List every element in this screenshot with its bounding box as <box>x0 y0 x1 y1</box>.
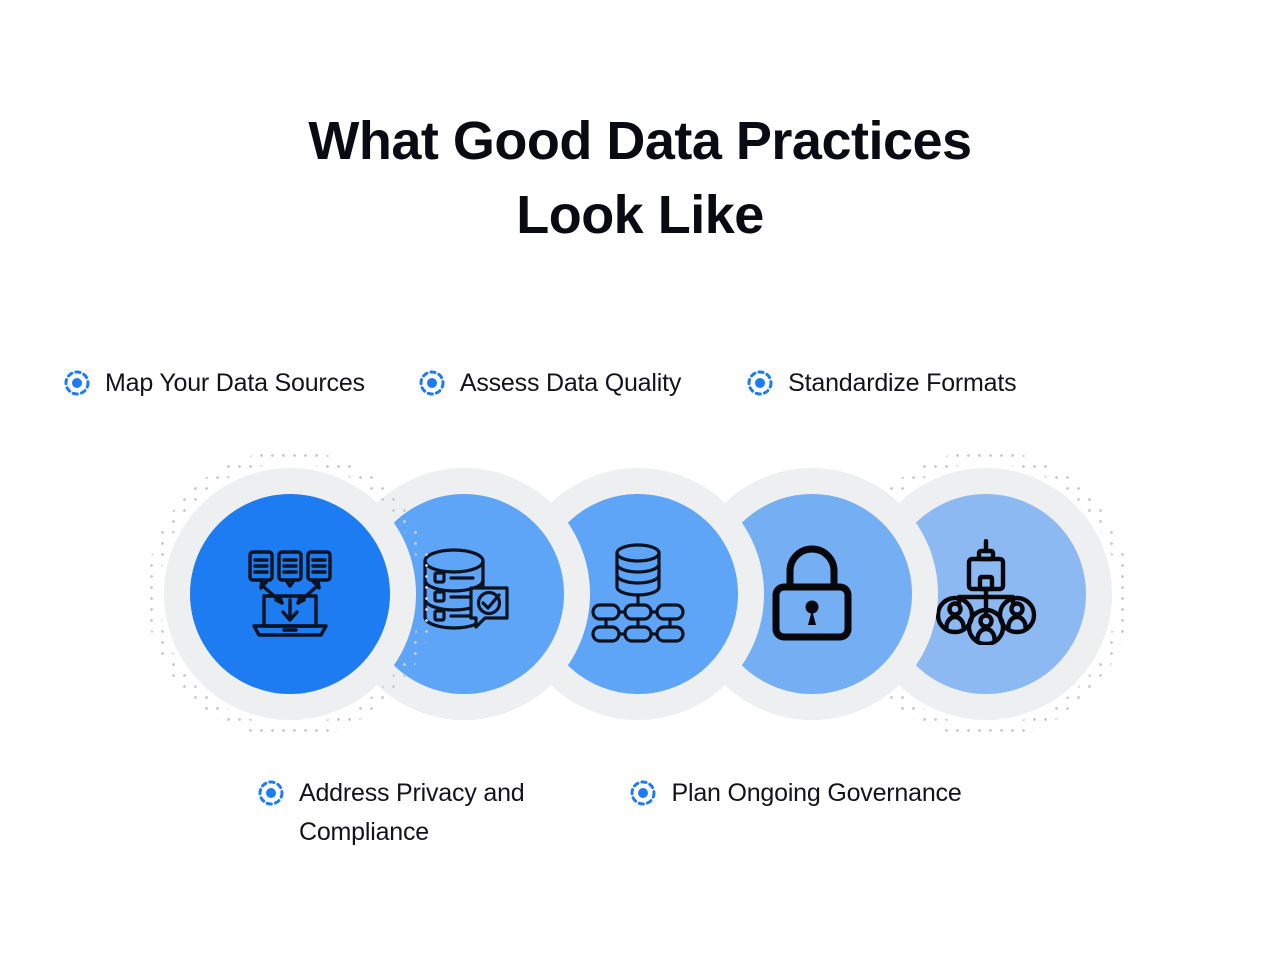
label-text: Map Your Data Sources <box>105 364 365 403</box>
dotted-circle-icon <box>628 778 658 813</box>
database-schema-icon <box>588 539 688 650</box>
title-line-2: Look Like <box>0 178 1280 252</box>
dotted-circle-icon <box>256 778 286 813</box>
step-circle-map-your-data-sources[interactable] <box>164 468 416 720</box>
padlock-icon <box>768 541 856 648</box>
governance-org-chart-icon <box>933 539 1039 650</box>
label-text: Standardize Formats <box>788 364 1016 403</box>
top-label-row: Map Your Data Sources Assess Data Qualit… <box>62 364 1222 403</box>
label-text: Plan Ongoing Governance <box>671 774 961 813</box>
dotted-circle-icon <box>417 368 447 403</box>
label-address-privacy-and-compliance: Address Privacy and Compliance <box>256 774 524 852</box>
circle-disc <box>190 494 390 694</box>
dotted-circle-icon <box>745 368 775 403</box>
steps-row <box>164 468 1124 720</box>
label-standardize-formats: Standardize Formats <box>745 364 1016 403</box>
bottom-label-row: Address Privacy and Compliance Plan Ongo… <box>256 774 1156 852</box>
page-title: What Good Data Practices Look Like <box>0 104 1280 252</box>
label-assess-data-quality: Assess Data Quality <box>417 364 681 403</box>
data-sources-to-laptop-icon <box>238 540 342 649</box>
title-line-1: What Good Data Practices <box>0 104 1280 178</box>
label-map-your-data-sources: Map Your Data Sources <box>62 364 365 403</box>
label-text: Address Privacy and Compliance <box>299 774 524 852</box>
label-text: Assess Data Quality <box>460 364 681 403</box>
dotted-circle-icon <box>62 368 92 403</box>
label-plan-ongoing-governance: Plan Ongoing Governance <box>628 774 961 813</box>
infographic-slide: What Good Data Practices Look Like Map Y… <box>0 0 1280 960</box>
